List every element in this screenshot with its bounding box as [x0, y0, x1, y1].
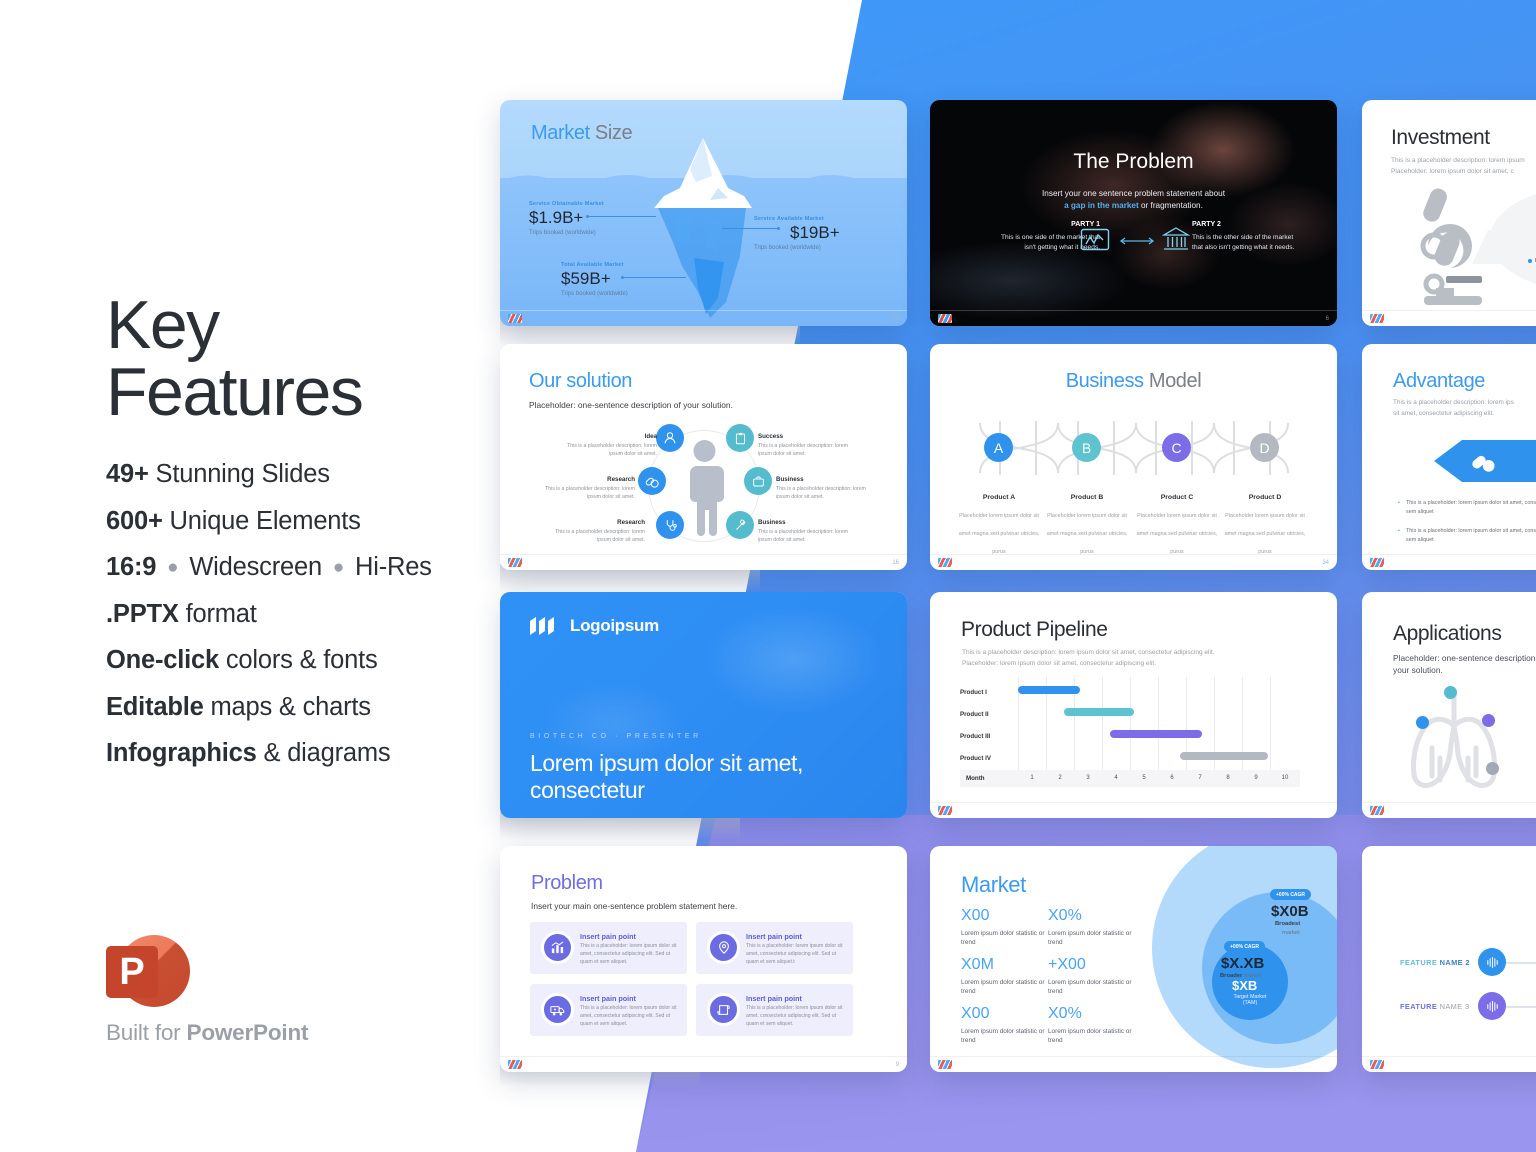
stat-desc: Lorem ipsum dolor statistic or trend — [1048, 929, 1138, 948]
feature-list: 49+ Stunning Slides 600+ Unique Elements… — [106, 460, 506, 786]
grid-line — [1102, 677, 1103, 772]
slide-subtitle: Insert your one sentence problem stateme… — [930, 188, 1337, 213]
subtitle-highlight: a gap in the market — [1064, 201, 1139, 210]
icon-circle — [541, 993, 574, 1026]
built-for-label: Built for PowerPoint — [106, 1020, 308, 1046]
slide-footer: 34 — [930, 554, 1337, 570]
feature-name: NAME 2 — [1440, 958, 1470, 967]
slide-subtitle: Insert your main one-sentence problem st… — [531, 901, 737, 911]
icon-circle-research-2[interactable] — [656, 511, 684, 539]
dark-background-image — [930, 100, 1337, 326]
connector-line — [623, 277, 686, 278]
product-name: Product D — [1219, 494, 1311, 501]
title-accent: Market — [531, 122, 590, 144]
left-info-panel: Key Features 49+ Stunning Slides 600+ Un… — [0, 0, 500, 1152]
item-name: Business — [758, 518, 863, 527]
node-c[interactable]: C — [1162, 433, 1191, 462]
slide-subtitle: Placeholder: one-sentence description of… — [1393, 652, 1536, 676]
legend-swatch-icon — [1528, 259, 1532, 263]
slide-product-pipeline[interactable]: Product Pipeline This is a placeholder d… — [930, 592, 1337, 818]
stat-value: X0% — [1048, 1005, 1138, 1023]
item-name: Research — [540, 518, 645, 527]
icon-circle — [707, 993, 740, 1026]
icon-circle-business-2[interactable] — [726, 511, 754, 539]
slide-footer — [1362, 310, 1536, 326]
stat-2: X0% Lorem ipsum dolor statistic or trend — [1048, 907, 1138, 948]
marker-dot-blue — [1416, 716, 1429, 729]
title-accent: Business — [1066, 370, 1144, 392]
slide-footer: 6 — [930, 310, 1337, 326]
icon-circle — [707, 931, 740, 964]
slide-title: Investment — [1391, 126, 1490, 150]
month-1: 1 — [1018, 775, 1046, 781]
stat-value: X00 — [961, 1005, 1051, 1023]
slide-number: 16 — [892, 560, 899, 566]
connector-dot — [621, 276, 624, 279]
card-body: This is a placeholder: lorem ipsum dolor… — [746, 943, 846, 967]
slide-description: This is a placeholder description: lorem… — [1391, 156, 1536, 178]
feature-rest: & diagrams — [257, 739, 391, 767]
bar-chart-icon — [550, 940, 565, 955]
desc-line-1: This is a placeholder description: lorem… — [1391, 157, 1525, 164]
stethoscope-icon — [664, 518, 677, 532]
card-body: This is a placeholder: lorem ipsum dolor… — [580, 943, 680, 967]
solution-item-business-1: Business This is a placeholder descripti… — [776, 475, 881, 502]
scroll-icon — [717, 1003, 731, 1017]
advantage-bullet-1: This is a placeholder: lorem ipsum dolor… — [1406, 499, 1536, 517]
item-text: This is a placeholder description: lorem… — [758, 443, 848, 457]
feature-item-oneclick: One-click colors & fonts — [106, 646, 506, 675]
marker-dot-purple — [1482, 714, 1495, 727]
som-sub-bold: Trips booked — [529, 230, 563, 236]
icon-circle — [541, 931, 574, 964]
node-b[interactable]: B — [1072, 433, 1101, 462]
pain-point-card-4[interactable]: Insert pain point This is a placeholder:… — [696, 984, 853, 1036]
month-10: 10 — [1270, 775, 1300, 781]
waveform-icon-circle-2[interactable] — [1478, 948, 1506, 976]
advantage-bullet-2: This is a placeholder: lorem ipsum dolor… — [1406, 527, 1536, 545]
clipboard-icon — [734, 432, 747, 445]
product-caption-a: Product A Placeholder lorem ipsum dolor … — [953, 494, 1045, 558]
som-sub: Trips booked (worldwide) — [529, 230, 596, 236]
party-2-text: This is the other side of the market tha… — [1192, 234, 1294, 251]
subtitle-line1: Insert your one sentence problem stateme… — [1042, 189, 1225, 198]
icon-circle-research-1[interactable] — [638, 467, 666, 495]
subtitle-tail: or fragmentation. — [1139, 201, 1203, 210]
waveform-icon — [1485, 955, 1500, 970]
feature-rest: Unique Elements — [163, 507, 361, 535]
icon-circle-business-1[interactable] — [744, 467, 772, 495]
marker-dot-grey — [1486, 762, 1499, 775]
slide-heading: Lorem ipsum dolor sit amet, consectetur — [530, 750, 830, 804]
slide-the-problem[interactable]: The Problem Insert your one sentence pro… — [930, 100, 1337, 326]
feature-strong: Editable — [106, 693, 204, 721]
stat-3: X0M Lorem ipsum dolor statistic or trend — [961, 956, 1051, 997]
sam-value: $19B+ — [790, 223, 840, 243]
title-line-2: Features — [106, 354, 362, 430]
slide-title: Our solution — [529, 370, 632, 393]
tam-sub-bold: Trips booked — [561, 291, 595, 297]
slide-market-size[interactable]: Market Size Service Obtainable Market $1… — [500, 100, 907, 326]
slide-title: Business Model — [930, 370, 1337, 393]
pills-icon — [645, 474, 659, 488]
gantt-bar-product-2 — [1064, 708, 1134, 716]
month-8: 8 — [1214, 775, 1242, 781]
slide-footer: 13 — [500, 310, 907, 326]
item-name: Research — [530, 475, 635, 484]
connector-dot — [777, 227, 780, 230]
item-name: Success — [758, 432, 863, 441]
slide-description: This is a placeholder description: lorem… — [1393, 398, 1536, 420]
brand-logo: Logoipsum — [530, 616, 659, 636]
pie-legend: Label 1 Label 2 L — [1528, 258, 1536, 264]
feature-item-slides: 49+ Stunning Slides — [106, 460, 506, 489]
feature-rest: Stunning Slides — [149, 460, 330, 488]
slide-number: 13 — [892, 316, 899, 322]
item-name: Idea — [552, 432, 657, 441]
feature-item-infographics: Infographics & diagrams — [106, 739, 506, 768]
row-label-product-4: Product IV — [960, 755, 991, 762]
slide-footer — [1362, 802, 1536, 818]
feature-label-3: FEATURE NAME 3 — [1400, 1002, 1470, 1011]
party-2-block: PARTY 2 This is the other side of the ma… — [1192, 220, 1304, 253]
solution-item-research-2: Research This is a placeholder descripti… — [540, 518, 645, 545]
gantt-bar-product-3 — [1110, 730, 1202, 738]
month-5: 5 — [1130, 775, 1158, 781]
month-4: 4 — [1102, 775, 1130, 781]
badge-cagr-mid: +00% CAGR — [1224, 941, 1265, 952]
sam-sub-light: (worldwide) — [788, 245, 820, 251]
slide-business-model[interactable]: Business Model A B C D Product A Placeho… — [930, 344, 1337, 570]
inner-caption: Target Market (TAM) — [1216, 994, 1284, 1006]
connector-dot — [586, 215, 589, 218]
syringe-icon — [734, 519, 747, 532]
slide-title: Market — [961, 872, 1026, 898]
title-accent: Our — [529, 370, 561, 392]
built-for-prefix: Built for — [106, 1020, 187, 1045]
node-d[interactable]: D — [1250, 433, 1279, 462]
brand-mark-icon — [1370, 314, 1384, 323]
feature-strong: One-click — [106, 646, 219, 674]
som-value: $1.9B+ — [529, 208, 583, 228]
month-9: 9 — [1242, 775, 1270, 781]
badge-cagr-outer: +00% CAGR — [1270, 889, 1311, 900]
human-figure-icon — [682, 438, 727, 536]
feature-strong: Infographics — [106, 739, 257, 767]
slide-footer — [930, 802, 1337, 818]
item-text: This is a placeholder description: lorem… — [776, 486, 866, 500]
item-text: This is a placeholder description: lorem… — [545, 486, 635, 500]
powerpoint-logo-icon: P — [106, 932, 184, 1010]
gantt-bar-product-1 — [1018, 686, 1080, 694]
title-rest: Size — [590, 122, 632, 144]
stat-value: X00 — [961, 907, 1051, 925]
pain-point-card-2[interactable]: Insert pain point This is a placeholder:… — [696, 922, 853, 974]
slide-number: 6 — [1326, 316, 1329, 322]
product-desc: Placeholder lorem ipsum dolor sit amet m… — [959, 513, 1040, 555]
brand-mark-icon — [508, 1060, 522, 1069]
stat-desc: Lorem ipsum dolor statistic or trend — [1048, 1027, 1138, 1046]
feature-item-elements: 600+ Unique Elements — [106, 507, 506, 536]
solution-item-success: Success This is a placeholder descriptio… — [758, 432, 863, 459]
feature-label-2: FEATURE NAME 2 — [1400, 958, 1470, 967]
title-rest: solution — [561, 370, 632, 392]
feature-end: Hi-Res — [355, 553, 432, 581]
slide-title: Market Size — [531, 122, 632, 145]
brand-mark-icon — [1370, 558, 1384, 567]
feature-name: NAME 3 — [1440, 1002, 1470, 1011]
slide-applications[interactable]: Applications Placeholder: one-sentence d… — [1362, 592, 1536, 818]
card-heading: Insert pain point — [580, 932, 636, 941]
brand-mark-icon — [508, 558, 522, 567]
tam-value: $59B+ — [561, 269, 611, 289]
user-icon — [663, 431, 677, 445]
marker-dot-teal — [1444, 686, 1457, 699]
solution-item-idea: Idea This is a placeholder description: … — [552, 432, 657, 459]
stat-value: X0M — [961, 956, 1051, 974]
brand-mark-icon — [938, 314, 952, 323]
card-heading: Insert pain point — [580, 994, 636, 1003]
month-2: 2 — [1046, 775, 1074, 781]
brand-name: Logoipsum — [570, 616, 659, 636]
slide-title: Advantage — [1393, 370, 1485, 393]
desc-line-1: This is a placeholder description: lorem… — [1393, 399, 1514, 406]
slide-advantage[interactable]: Advantage This is a placeholder descript… — [1362, 344, 1536, 570]
stat-desc: Lorem ipsum dolor statistic or trend — [961, 929, 1051, 948]
feature-prefix: FEATURE — [1400, 958, 1440, 967]
grid-line — [1158, 677, 1159, 772]
lungs-icon — [1394, 692, 1514, 792]
pain-point-card-1[interactable]: Insert pain point This is a placeholder:… — [530, 922, 687, 974]
solution-item-business-2: Business This is a placeholder descripti… — [758, 518, 863, 545]
desc-line-1: This is a placeholder description: lorem… — [962, 649, 1215, 656]
month-axis-row: Month 1 2 3 4 5 6 7 8 9 10 — [960, 770, 1300, 787]
desc-line-2: sit amet, consectetur adipiscing elit. — [1393, 410, 1494, 417]
item-text: This is a placeholder description: lorem… — [758, 529, 848, 543]
desc-line-2: Placeholder: lorem ipsum dolor sit amet,… — [962, 660, 1156, 667]
tam-sub-light: (worldwide) — [595, 291, 627, 297]
product-caption-d: Product D Placeholder lorem ipsum dolor … — [1219, 494, 1311, 558]
item-text: This is a placeholder description: lorem… — [567, 443, 657, 457]
connector-line-3 — [1506, 1006, 1536, 1008]
waveform-icon-circle-3[interactable] — [1478, 992, 1506, 1020]
node-letter: B — [1082, 440, 1091, 456]
feature-item-pptx: .PPTX format — [106, 600, 506, 629]
brand-mark-icon — [508, 314, 522, 323]
feature-item-widescreen: 16:9 ● Widescreen ● Hi-Res — [106, 553, 506, 582]
title-rest: Model — [1144, 370, 1202, 392]
slide-number: 9 — [896, 1062, 899, 1068]
slide-title: Problem — [531, 872, 603, 895]
stat-4: +X00 Lorem ipsum dolor statistic or tren… — [1048, 956, 1138, 997]
brand-mark-icon — [938, 1060, 952, 1069]
slide-our-solution[interactable]: Our solution Placeholder: one-sentence d… — [500, 344, 907, 570]
som-label: Service Obtainable Market — [529, 201, 604, 207]
product-desc: Placeholder lorem ipsum dolor sit amet m… — [1225, 513, 1306, 555]
brand-mark-icon — [938, 806, 952, 815]
node-letter: C — [1171, 440, 1181, 456]
stat-1: X00 Lorem ipsum dolor statistic or trend — [961, 907, 1051, 948]
legend-item-1: Label 1 — [1528, 258, 1536, 264]
node-letter: D — [1259, 440, 1269, 456]
feature-strong: 49+ — [106, 460, 149, 488]
feature-item-editable: Editable maps & charts — [106, 693, 506, 722]
slide-title: Product Pipeline — [961, 618, 1108, 642]
outer-caption-light: market — [1282, 930, 1300, 936]
stat-value: X0% — [1048, 907, 1138, 925]
slide-footer: 9 — [500, 1056, 907, 1072]
node-a[interactable]: A — [984, 433, 1013, 462]
stat-value: +X00 — [1048, 956, 1138, 974]
mid-value: $X.XB — [1221, 955, 1264, 972]
grid-line — [1270, 677, 1271, 772]
feature-strong: .PPTX — [106, 600, 179, 628]
month-axis-label: Month — [966, 775, 985, 782]
slide-subtitle: Placeholder: one-sentence description of… — [529, 400, 733, 410]
feature-mid: Widescreen — [189, 553, 322, 581]
connector-line — [588, 216, 656, 217]
stat-5: X00 Lorem ipsum dolor statistic or trend — [961, 1005, 1051, 1046]
tam-sub: Trips booked (worldwide) — [561, 291, 628, 297]
slide-title: The Problem — [930, 150, 1337, 174]
stat-desc: Lorem ipsum dolor statistic or trend — [961, 978, 1051, 997]
slide-description: This is a placeholder description: lorem… — [962, 647, 1292, 669]
feature-prefix: FEATURE — [1400, 1002, 1440, 1011]
card-heading: Insert pain point — [746, 994, 802, 1003]
month-7: 7 — [1186, 775, 1214, 781]
month-6: 6 — [1158, 775, 1186, 781]
product-caption-b: Product B Placeholder lorem ipsum dolor … — [1041, 494, 1133, 558]
card-body: This is a placeholder: lorem ipsum dolor… — [580, 1005, 680, 1029]
outer-value: $X0B — [1271, 903, 1309, 920]
brand-mark-icon — [1370, 806, 1384, 815]
product-caption-c: Product C Placeholder lorem ipsum dolor … — [1131, 494, 1223, 558]
row-label-product-2: Product II — [960, 711, 989, 718]
built-for-strong: PowerPoint — [187, 1020, 309, 1045]
slide-footer — [930, 1056, 1337, 1072]
pain-point-card-3[interactable]: Insert pain point This is a placeholder:… — [530, 984, 687, 1036]
slide-product-features[interactable]: Prod Lorem ipsum dolor FEATURE NAME 2 FE… — [1362, 846, 1536, 1072]
slide-number: 34 — [1322, 560, 1329, 566]
product-name: Product A — [953, 494, 1045, 501]
slide-investment[interactable]: Investment This is a placeholder descrip… — [1362, 100, 1536, 326]
icon-circle-idea[interactable] — [656, 424, 684, 452]
bullet-dot-icon: ● — [163, 557, 182, 578]
party-2-name: PARTY 2 — [1192, 220, 1304, 231]
powerpoint-letter: P — [106, 946, 158, 998]
inner-value: $XB — [1232, 978, 1257, 993]
slide-problem[interactable]: Problem Insert your main one-sentence pr… — [500, 846, 907, 1072]
title-line-1: Key — [106, 287, 219, 363]
bank-icon — [1162, 226, 1190, 254]
grid-line — [1130, 677, 1131, 772]
row-label-product-3: Product III — [960, 733, 990, 740]
feature-rest: maps & charts — [204, 693, 371, 721]
brand-mark-icon — [938, 558, 952, 567]
product-desc: Placeholder lorem ipsum dolor sit amet m… — [1047, 513, 1128, 555]
item-text: This is a placeholder description: lorem… — [555, 529, 645, 543]
product-desc: Placeholder lorem ipsum dolor sit amet m… — [1137, 513, 1218, 555]
connector-line — [722, 228, 780, 229]
card-heading: Insert pain point — [746, 932, 802, 941]
logoipsum-mark-icon — [530, 617, 561, 635]
page-title: Key Features — [106, 292, 362, 425]
inner-caption-line2: (TAM) — [1243, 1000, 1258, 1006]
product-name: Product C — [1131, 494, 1223, 501]
bullet-dot-icon: ● — [329, 557, 348, 578]
item-name: Business — [776, 475, 881, 484]
gantt-bar-product-4 — [1180, 752, 1268, 760]
node-letter: A — [994, 440, 1003, 456]
product-name: Product B — [1041, 494, 1133, 501]
tam-label: Total Available Market — [561, 262, 624, 268]
double-arrow-icon — [1117, 236, 1157, 246]
ambulance-icon — [550, 1003, 565, 1017]
stat-desc: Lorem ipsum dolor statistic or trend — [1048, 978, 1138, 997]
slide-footer — [1362, 554, 1536, 570]
dna-helix-graphic — [974, 417, 1294, 479]
connector-line-2 — [1506, 962, 1536, 964]
card-body: This is a placeholder: lorem ipsum dolor… — [746, 1005, 846, 1029]
row-label-product-1: Product I — [960, 689, 987, 696]
sam-sub: Trips booked (worldwide) — [754, 245, 821, 251]
sam-sub-bold: Trips booked — [754, 245, 788, 251]
chart-screen-icon — [1080, 228, 1110, 254]
pills-icon — [1470, 448, 1496, 474]
feature-rest: colors & fonts — [219, 646, 378, 674]
stat-desc: Lorem ipsum dolor statistic or trend — [961, 1027, 1051, 1046]
powerpoint-badge: P — [106, 932, 184, 1010]
map-pin-icon — [717, 940, 731, 955]
month-3: 3 — [1074, 775, 1102, 781]
feature-rest: format — [179, 600, 257, 628]
slide-market[interactable]: Market X00 Lorem ipsum dolor statistic o… — [930, 846, 1337, 1072]
eyebrow-text: BIOTECH CO · PRESENTER — [530, 733, 702, 740]
briefcase-icon — [752, 475, 765, 488]
brand-mark-icon — [1370, 1060, 1384, 1069]
feature-strong: 600+ — [106, 507, 163, 535]
slide-footer — [1362, 1056, 1536, 1072]
sam-label: Service Available Market — [754, 216, 824, 222]
feature-strong: 16:9 — [106, 553, 156, 581]
slide-title-logoipsum[interactable]: Logoipsum BIOTECH CO · PRESENTER Lorem i… — [500, 592, 907, 818]
stat-6: X0% Lorem ipsum dolor statistic or trend — [1048, 1005, 1138, 1046]
icon-circle-success[interactable] — [726, 424, 754, 452]
solution-item-research-1: Research This is a placeholder descripti… — [530, 475, 635, 502]
waveform-icon — [1485, 999, 1500, 1014]
desc-line-2: Placeholder: lorem ipsum dolor sit amet,… — [1391, 168, 1514, 175]
slide-footer: 16 — [500, 554, 907, 570]
slide-title: Applications — [1393, 622, 1501, 646]
som-sub-light: (worldwide) — [563, 230, 595, 236]
outer-caption-bold: Broadest — [1275, 921, 1300, 927]
